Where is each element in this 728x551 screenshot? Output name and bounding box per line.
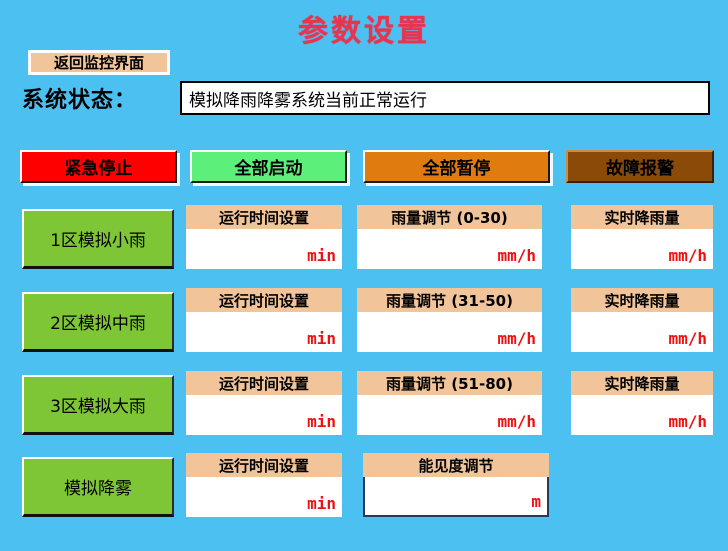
- system-status-field[interactable]: 模拟降雨降雾系统当前正常运行: [180, 81, 710, 115]
- rain-adjust-field-3: 雨量调节 (51-80) mm/h: [357, 371, 542, 435]
- system-status-label: 系统状态：: [22, 82, 137, 114]
- live-rainfall-unit-2: mm/h: [668, 329, 707, 348]
- runtime-field-header: 运行时间设置: [186, 453, 342, 477]
- live-rainfall-field-3: 实时降雨量 mm/h: [571, 371, 713, 435]
- runtime-input-3[interactable]: min: [186, 395, 342, 435]
- live-rainfall-field-1: 实时降雨量 mm/h: [571, 205, 713, 269]
- live-rainfall-display-2: mm/h: [571, 312, 713, 352]
- start-all-button[interactable]: 全部启动: [190, 150, 347, 183]
- fog-simulation-button[interactable]: 模拟降雾: [22, 457, 174, 517]
- visibility-header: 能见度调节: [363, 453, 549, 477]
- visibility-field: 能见度调节 m: [363, 453, 549, 517]
- runtime-field-header: 运行时间设置: [186, 371, 342, 395]
- live-rainfall-unit-3: mm/h: [668, 412, 707, 431]
- live-rainfall-display-3: mm/h: [571, 395, 713, 435]
- live-rainfall-header-3: 实时降雨量: [571, 371, 713, 395]
- live-rainfall-header-1: 实时降雨量: [571, 205, 713, 229]
- rain-adjust-input-1[interactable]: mm/h: [357, 229, 542, 269]
- runtime-unit-2: min: [307, 329, 336, 348]
- rain-adjust-input-2[interactable]: mm/h: [357, 312, 542, 352]
- emergency-stop-button[interactable]: 紧急停止: [20, 150, 177, 183]
- runtime-input-1[interactable]: min: [186, 229, 342, 269]
- runtime-field-fog: 运行时间设置 min: [186, 453, 342, 517]
- runtime-unit-fog: min: [307, 494, 336, 513]
- runtime-field-2: 运行时间设置 min: [186, 288, 342, 352]
- zone-row: 2区模拟中雨 运行时间设置 min 雨量调节 (31-50) mm/h 实时降雨…: [0, 288, 728, 354]
- system-status-value: 模拟降雨降雾系统当前正常运行: [189, 86, 427, 111]
- zone-row: 3区模拟大雨 运行时间设置 min 雨量调节 (51-80) mm/h 实时降雨…: [0, 371, 728, 437]
- fault-alarm-button[interactable]: 故障报警: [566, 150, 714, 183]
- runtime-field-header: 运行时间设置: [186, 288, 342, 312]
- rain-adjust-field-2: 雨量调节 (31-50) mm/h: [357, 288, 542, 352]
- runtime-unit-3: min: [307, 412, 336, 431]
- runtime-input-2[interactable]: min: [186, 312, 342, 352]
- page-title: 参数设置: [0, 6, 728, 50]
- return-to-monitor-button[interactable]: 返回监控界面: [28, 50, 170, 75]
- runtime-field-header: 运行时间设置: [186, 205, 342, 229]
- zone-button-2[interactable]: 2区模拟中雨: [22, 292, 174, 352]
- rain-adjust-unit-1: mm/h: [497, 246, 536, 265]
- rain-adjust-unit-2: mm/h: [497, 329, 536, 348]
- runtime-field-3: 运行时间设置 min: [186, 371, 342, 435]
- rain-adjust-unit-3: mm/h: [497, 412, 536, 431]
- zone-row: 模拟降雾 运行时间设置 min 能见度调节 m: [0, 453, 728, 519]
- live-rainfall-display-1: mm/h: [571, 229, 713, 269]
- visibility-input[interactable]: m: [363, 477, 549, 517]
- runtime-unit-1: min: [307, 246, 336, 265]
- zone-button-3[interactable]: 3区模拟大雨: [22, 375, 174, 435]
- visibility-unit: m: [531, 492, 541, 511]
- rain-adjust-header-3: 雨量调节 (51-80): [357, 371, 542, 395]
- zone-button-1[interactable]: 1区模拟小雨: [22, 209, 174, 269]
- rain-adjust-field-1: 雨量调节 (0-30) mm/h: [357, 205, 542, 269]
- pause-all-button[interactable]: 全部暂停: [363, 150, 550, 183]
- zone-row: 1区模拟小雨 运行时间设置 min 雨量调节 (0-30) mm/h 实时降雨量…: [0, 205, 728, 271]
- runtime-field-1: 运行时间设置 min: [186, 205, 342, 269]
- rain-adjust-header-2: 雨量调节 (31-50): [357, 288, 542, 312]
- live-rainfall-field-2: 实时降雨量 mm/h: [571, 288, 713, 352]
- runtime-input-fog[interactable]: min: [186, 477, 342, 517]
- live-rainfall-unit-1: mm/h: [668, 246, 707, 265]
- rain-adjust-header-1: 雨量调节 (0-30): [357, 205, 542, 229]
- live-rainfall-header-2: 实时降雨量: [571, 288, 713, 312]
- rain-adjust-input-3[interactable]: mm/h: [357, 395, 542, 435]
